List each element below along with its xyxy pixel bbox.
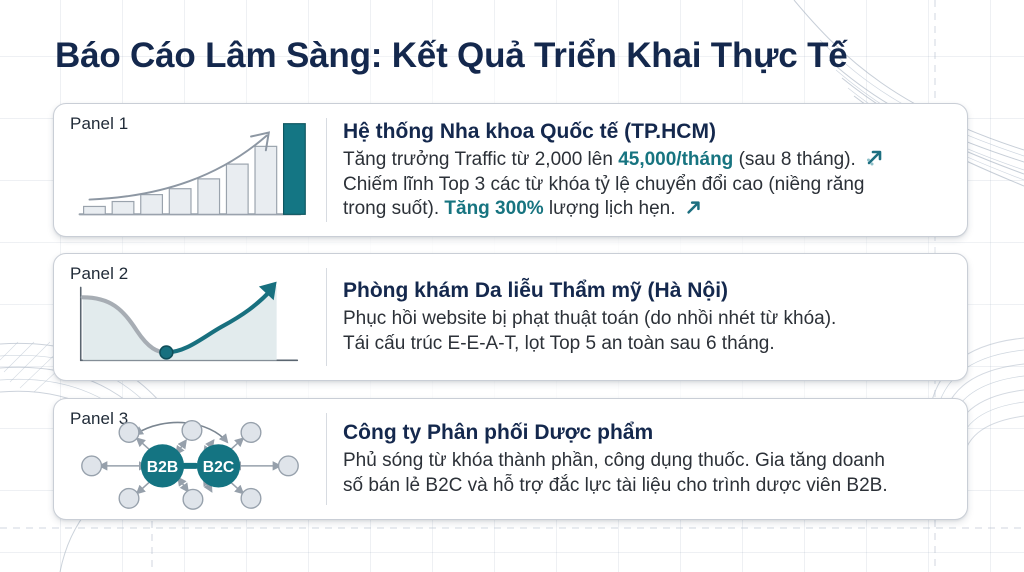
text-segment: Tăng trưởng Traffic từ 2,000 lên (343, 149, 618, 170)
panel-2-visual: Panel 2 (54, 254, 326, 380)
node-label-b2b: B2B (147, 459, 178, 476)
panel-3-body: Công ty Phân phối Dược phẩm Phủ sóng từ … (327, 399, 967, 519)
panel-1-line-2: Chiếm lĩnh Top 3 các từ khóa tỷ lệ chuyể… (343, 173, 949, 198)
panel-3-line-1: Phủ sóng từ khóa thành phần, công dụng t… (343, 449, 949, 474)
trend-up-arrow-icon (685, 199, 702, 216)
panel-card-2[interactable]: Panel 2 Phòng khám Da liễu Thẩm mỹ (Hà N… (53, 253, 968, 381)
trend-up-arrow-icon (865, 148, 884, 167)
panel-2-heading: Phòng khám Da liễu Thẩm mỹ (Hà Nội) (343, 278, 949, 304)
page-title: Báo Cáo Lâm Sàng: Kết Quả Triển Khai Thự… (55, 36, 848, 76)
panel-2-body: Phòng khám Da liễu Thẩm mỹ (Hà Nội) Phục… (327, 254, 967, 380)
panel-2-line-1: Phục hồi website bị phạt thuật toán (do … (343, 307, 949, 332)
highlight-metric: 45,000/tháng (618, 149, 733, 170)
panel-2-line-2: Tái cấu trúc E-E-A-T, lọt Top 5 an toàn … (343, 332, 949, 357)
panel-1-line-1: Tăng trưởng Traffic từ 2,000 lên 45,000/… (343, 148, 949, 173)
recovery-line-chart-icon (54, 254, 326, 380)
panel-card-1[interactable]: Panel 1 Hệ thống Nha khoa Quốc tế (TP.HC… (53, 103, 968, 237)
bar-growth-chart-icon (54, 104, 326, 236)
text-segment: (sau 8 tháng). (733, 149, 856, 170)
panel-1-line-3: trong suốt). Tăng 300% lượng lịch hẹn. (343, 197, 949, 222)
panel-3-visual: Panel 3 (54, 399, 326, 519)
panel-3-heading: Công ty Phân phối Dược phẩm (343, 420, 949, 446)
b2b-b2c-network-diagram-icon: B2B B2C (54, 399, 326, 519)
panel-1-visual: Panel 1 (54, 104, 326, 236)
node-label-b2c: B2C (203, 459, 234, 476)
text-segment: trong suốt). (343, 198, 444, 219)
highlight-metric: Tăng 300% (444, 198, 543, 219)
text-segment: lượng lịch hẹn. (544, 198, 676, 219)
panel-1-body: Hệ thống Nha khoa Quốc tế (TP.HCM) Tăng … (327, 104, 967, 236)
panel-card-3[interactable]: Panel 3 (53, 398, 968, 520)
text-segment: Chiếm lĩnh Top 3 các từ khóa tỷ lệ chuyể… (343, 174, 864, 195)
panel-1-heading: Hệ thống Nha khoa Quốc tế (TP.HCM) (343, 119, 949, 145)
panel-3-line-2: số bán lẻ B2C và hỗ trợ đắc lực tài liệu… (343, 474, 949, 499)
